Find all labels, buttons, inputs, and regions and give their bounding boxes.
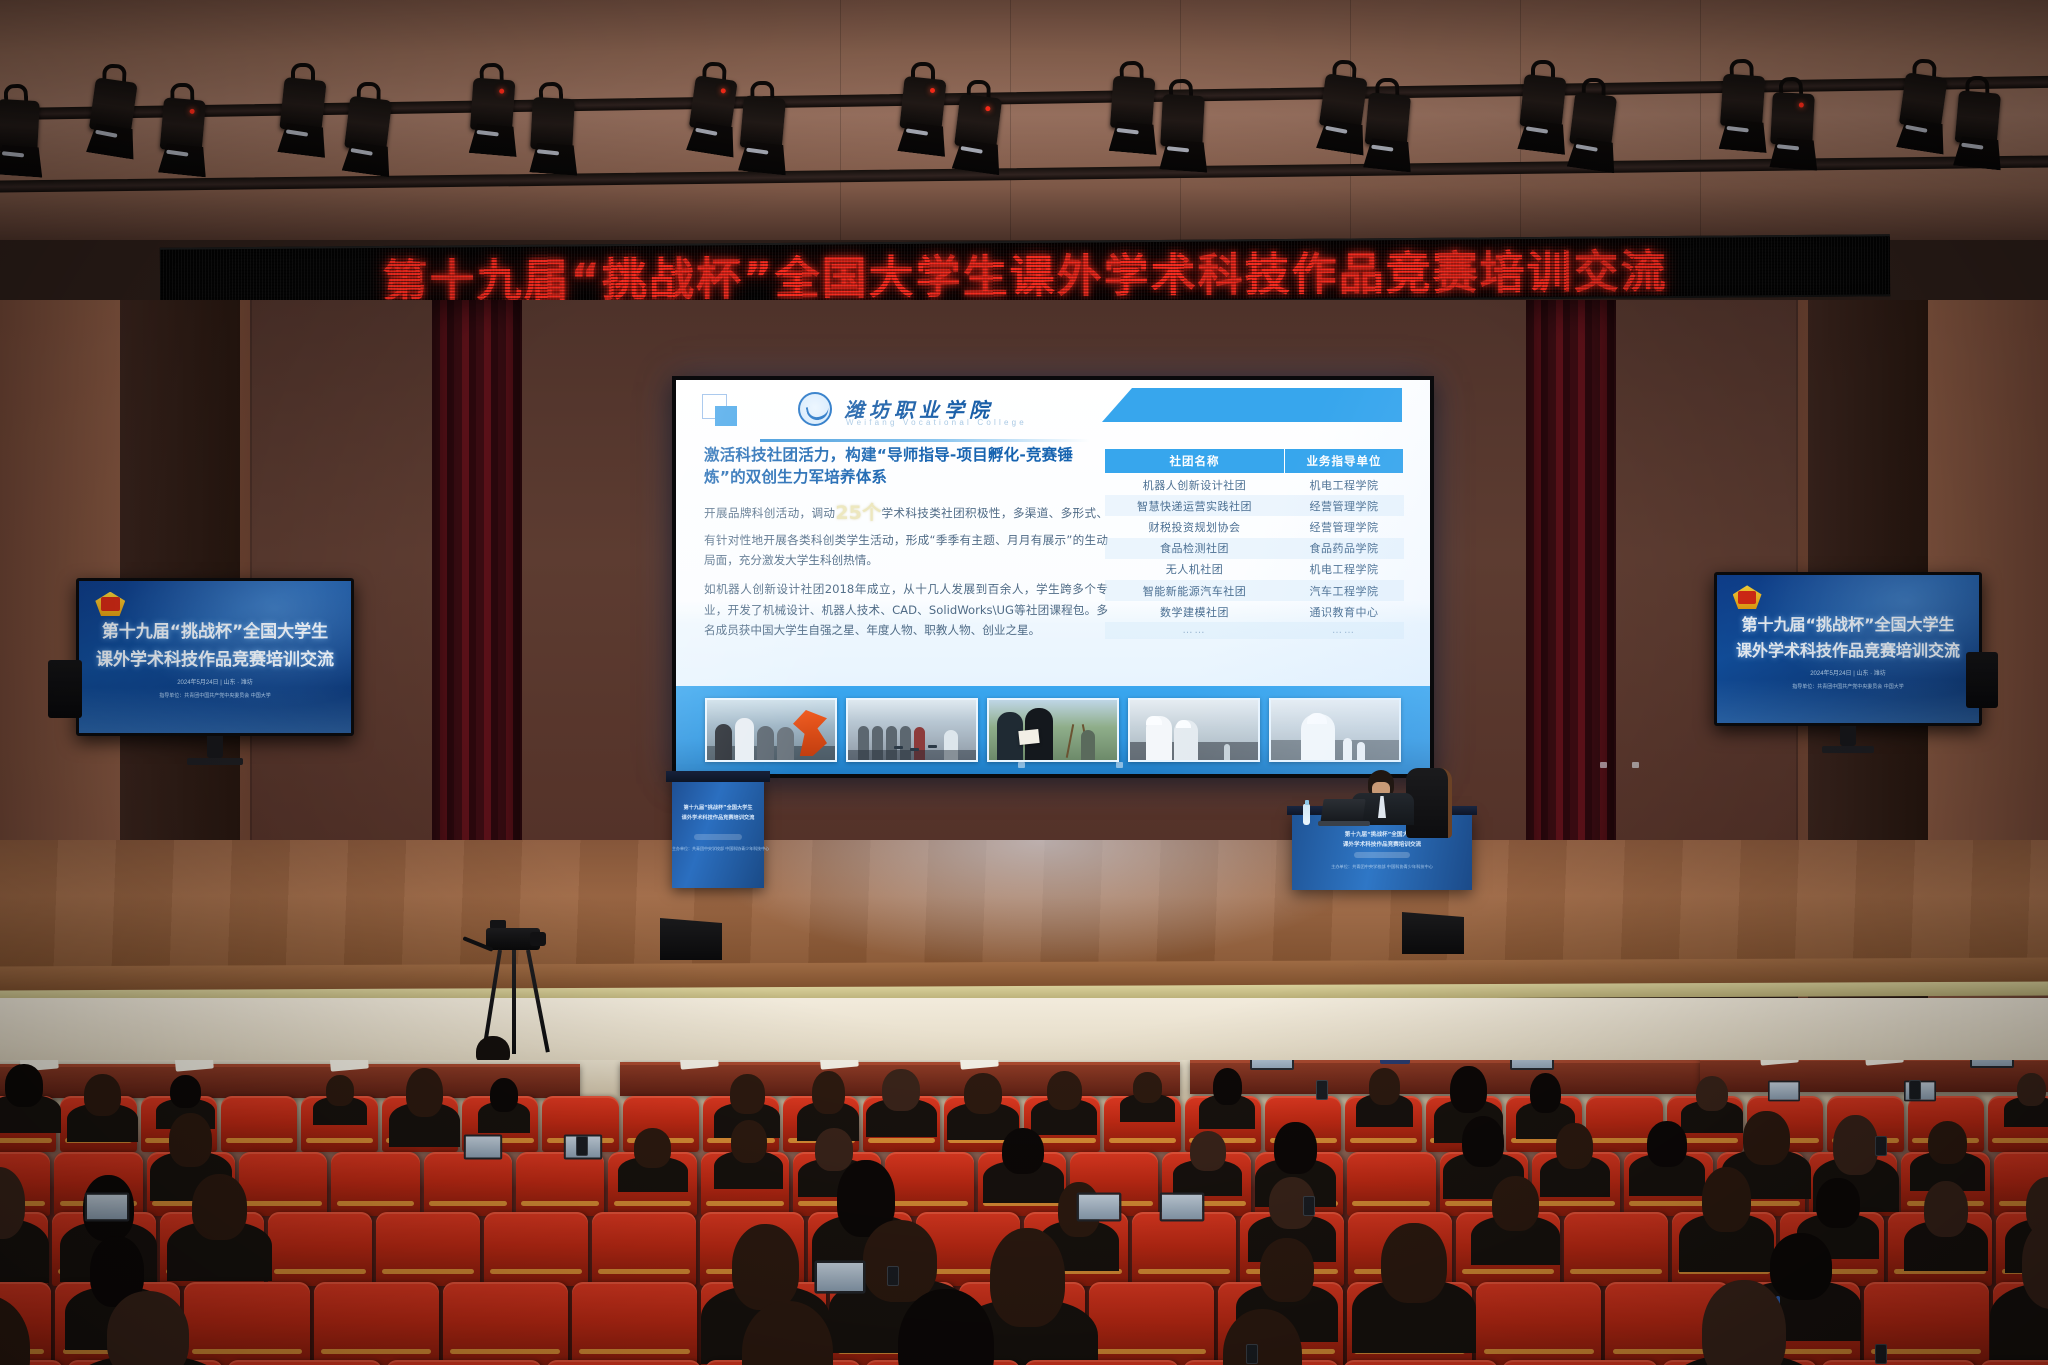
auditorium-seat[interactable] bbox=[227, 1360, 382, 1365]
audience-member-head bbox=[812, 1071, 845, 1115]
monitor-right-line1: 第十九届“挑战杯”全国大学生 bbox=[1717, 611, 1979, 635]
spotlight-fixture bbox=[689, 73, 738, 153]
audience-member-head bbox=[863, 1220, 937, 1302]
auditorium-seat[interactable] bbox=[1343, 1360, 1498, 1365]
auditorium-seat[interactable] bbox=[546, 1360, 701, 1365]
audience-laptop bbox=[1159, 1192, 1204, 1221]
audience-house bbox=[0, 1060, 2048, 1365]
slide-body-paragraph-1: 开展品牌科创活动，调动25个学术科技类社团积极性，多渠道、多形式、有针对性地开展… bbox=[704, 497, 1108, 570]
head-table-host-line: 主办单位：共青团中央学校部 中国科协青少年科技中心 bbox=[1292, 864, 1472, 870]
side-monitor-right[interactable]: 第十九届“挑战杯”全国大学生 课外学术科技作品竞赛培训交流 2024年5月24日… bbox=[1714, 572, 1982, 753]
audience-member-head bbox=[1133, 1072, 1162, 1103]
audience-member-head bbox=[990, 1228, 1065, 1327]
audience-laptop bbox=[1250, 1060, 1294, 1070]
auditorium-seat[interactable] bbox=[1980, 1360, 2048, 1365]
spotlight-fixture bbox=[1899, 70, 1948, 150]
spotlight-fixture bbox=[1719, 70, 1768, 150]
lectern-date-bar bbox=[694, 834, 742, 840]
main-projection-screen[interactable]: 潍坊职业学院 Weifang Vocational College 激活科技社团… bbox=[672, 376, 1434, 778]
photo-chemistry-lab bbox=[1269, 698, 1401, 762]
auditorium-seat[interactable] bbox=[1132, 1212, 1236, 1286]
photo-drone-club-lineup bbox=[846, 698, 978, 762]
audience-member-head bbox=[406, 1068, 443, 1117]
spotlight-fixture bbox=[900, 74, 946, 152]
table-row: 智能新能源汽车社团汽车工程学院 bbox=[1105, 580, 1404, 601]
header-rule bbox=[760, 439, 1090, 442]
party-emblem-icon bbox=[1733, 585, 1762, 609]
audience-laptop bbox=[1510, 1060, 1554, 1070]
auditorium-seat[interactable] bbox=[331, 1152, 419, 1216]
auditorium-seat[interactable] bbox=[1564, 1212, 1668, 1286]
audience-member-head bbox=[1816, 1178, 1859, 1228]
audience-member-head bbox=[815, 1128, 853, 1171]
audience-member-head bbox=[192, 1174, 247, 1240]
audience-laptop bbox=[1970, 1060, 2014, 1068]
auditorium-seat[interactable] bbox=[1821, 1360, 1976, 1365]
audience-member-head bbox=[1213, 1068, 1242, 1105]
audience-member-head bbox=[1047, 1071, 1082, 1110]
slide-body-paragraph-2: 如机器人创新设计社团2018年成立，从十几人发展到百余人，学生跨多个专业，开发了… bbox=[704, 579, 1108, 640]
spotlight-fixture bbox=[528, 92, 578, 172]
audience-phone bbox=[1316, 1080, 1328, 1100]
cell-department: 食品药品学院 bbox=[1285, 538, 1404, 559]
spotlight-fixture bbox=[1954, 88, 2001, 167]
audience-phone bbox=[1246, 1344, 1258, 1364]
spotlight-fixture bbox=[344, 94, 391, 173]
cell-department: 机电工程学院 bbox=[1285, 474, 1404, 496]
spotlight-fixture bbox=[1520, 72, 1566, 150]
camera-lens-icon bbox=[530, 932, 546, 946]
cell-club-name: …… bbox=[1105, 622, 1285, 638]
audience-member-head bbox=[1556, 1123, 1593, 1169]
audience-member-head bbox=[1770, 1233, 1833, 1300]
spotlight-fixture bbox=[1569, 89, 1616, 168]
lectern-line1: 第十九届“挑战杯”全国大学生 bbox=[672, 804, 764, 811]
spotlight-fixture bbox=[89, 75, 138, 155]
spotlight-fixture bbox=[954, 92, 1001, 171]
video-camera-tripod bbox=[468, 928, 564, 1058]
presentation-slide: 潍坊职业学院 Weifang Vocational College 激活科技社团… bbox=[676, 380, 1430, 774]
table-row: ………… bbox=[1105, 622, 1404, 638]
monitor-right-line2: 课外学术科技作品竞赛培训交流 bbox=[1717, 637, 1979, 661]
audience-member-head bbox=[326, 1075, 354, 1106]
auditorium-seat[interactable] bbox=[572, 1282, 697, 1365]
cell-club-name: 数学建模社团 bbox=[1105, 601, 1285, 622]
monitor-left-line2: 课外学术科技作品竞赛培训交流 bbox=[79, 645, 351, 670]
water-bottle bbox=[1303, 804, 1310, 825]
blue-parallelogram-banner bbox=[1102, 388, 1402, 422]
body-text-a: 开展品牌科创活动，调动 bbox=[704, 506, 835, 520]
cell-club-name: 食品检测社团 bbox=[1105, 538, 1285, 559]
audience-member-head bbox=[882, 1069, 919, 1111]
audience-member-head bbox=[1696, 1076, 1728, 1112]
photo-robot-arm-lab bbox=[705, 698, 837, 762]
audience-member-head bbox=[170, 1075, 201, 1109]
audience-laptop bbox=[84, 1192, 129, 1221]
audience-member-head bbox=[1492, 1176, 1539, 1231]
speaker-laptop-base bbox=[1318, 821, 1370, 826]
cell-department: …… bbox=[1285, 622, 1404, 638]
cell-club-name: 智能新能源汽车社团 bbox=[1105, 580, 1285, 601]
table-row: 无人机社团机电工程学院 bbox=[1105, 559, 1404, 580]
auditorium-seat[interactable] bbox=[1502, 1360, 1657, 1365]
camera-operator-head bbox=[476, 1036, 510, 1062]
audience-member-head bbox=[730, 1074, 765, 1113]
club-table: 社团名称 业务指导单位 机器人创新设计社团机电工程学院智慧快递运营实践社团经营管… bbox=[1104, 448, 1404, 639]
square-fill-icon bbox=[715, 406, 737, 426]
lectern-line2: 课外学术科技作品竞赛培训交流 bbox=[672, 814, 764, 821]
audience-phone bbox=[1303, 1196, 1315, 1216]
auditorium-seat[interactable] bbox=[443, 1282, 568, 1365]
led-banner: 第十九届“挑战杯”全国大学生课外学术科技作品竞赛培训交流 bbox=[160, 234, 1890, 310]
audience-member-head bbox=[169, 1113, 212, 1167]
monitor-left-sub1: 2024年5月24日 | 山东 · 潍坊 bbox=[79, 677, 351, 686]
table-row: 财税投资规划协会经营管理学院 bbox=[1105, 516, 1404, 537]
table-header-department: 业务指导单位 bbox=[1285, 449, 1404, 474]
table-row: 机器人创新设计社团机电工程学院 bbox=[1105, 474, 1404, 496]
audience-notebook bbox=[1380, 1060, 1410, 1064]
audience-member-head bbox=[1743, 1111, 1790, 1166]
audience-member-head bbox=[1928, 1121, 1967, 1164]
audience-member-head bbox=[731, 1120, 767, 1163]
cell-department: 经营管理学院 bbox=[1285, 516, 1404, 537]
spotlight-fixture bbox=[280, 75, 326, 153]
audience-member-head bbox=[1924, 1181, 1968, 1237]
audience-phone bbox=[887, 1266, 899, 1286]
led-banner-text: 第十九届“挑战杯”全国大学生课外学术科技作品竞赛培训交流 bbox=[382, 234, 1668, 309]
audience-member-head bbox=[1260, 1238, 1314, 1302]
spotlight-fixture bbox=[1158, 90, 1208, 170]
spotlight-fixture bbox=[159, 95, 206, 174]
audience-member-head bbox=[1702, 1167, 1752, 1232]
audience-laptop bbox=[464, 1135, 502, 1160]
auditorium-seat[interactable] bbox=[484, 1212, 588, 1286]
auditorium-seat[interactable] bbox=[516, 1152, 604, 1216]
stage-monitor-right bbox=[1402, 912, 1464, 954]
university-crest-icon bbox=[798, 392, 832, 426]
auditorium-seat[interactable] bbox=[1089, 1282, 1214, 1365]
audience-member-head bbox=[1530, 1073, 1561, 1114]
spotlight-fixture bbox=[1319, 72, 1368, 152]
auditorium-seat[interactable] bbox=[314, 1282, 439, 1365]
auditorium-scene: 第十九届“挑战杯”全国大学生课外学术科技作品竞赛培训交流 潍坊职业学院 Weif… bbox=[0, 0, 2048, 1365]
table-body: 机器人创新设计社团机电工程学院智慧快递运营实践社团经营管理学院财税投资规划协会经… bbox=[1105, 474, 1404, 639]
university-name-en: Weifang Vocational College bbox=[846, 418, 1027, 427]
auditorium-seat[interactable] bbox=[239, 1152, 327, 1216]
stage-monitor-left bbox=[660, 918, 722, 960]
audience-member-head bbox=[2017, 1073, 2046, 1106]
monitor-left-line1: 第十九届“挑战杯”全国大学生 bbox=[79, 617, 351, 642]
auditorium-seat[interactable] bbox=[1024, 1360, 1179, 1365]
auditorium-seat[interactable] bbox=[1347, 1152, 1435, 1216]
head-table-date-bar bbox=[1354, 852, 1410, 858]
table-row: 智慧快递运营实践社团经营管理学院 bbox=[1105, 495, 1404, 516]
auditorium-seat[interactable] bbox=[268, 1212, 372, 1286]
audience-phone bbox=[1909, 1080, 1921, 1100]
photo-food-testing-lab bbox=[1128, 698, 1260, 762]
wall-speaker-right bbox=[1966, 652, 1998, 708]
cell-club-name: 机器人创新设计社团 bbox=[1105, 474, 1285, 496]
auditorium-seat[interactable] bbox=[1476, 1282, 1601, 1365]
audience-laptop bbox=[1768, 1081, 1800, 1102]
audience-member-head bbox=[1462, 1116, 1505, 1167]
cell-club-name: 智慧快递运营实践社团 bbox=[1105, 495, 1285, 516]
audience-member-head bbox=[1381, 1223, 1446, 1303]
head-table-line2: 课外学术科技作品竞赛培训交流 bbox=[1292, 840, 1472, 848]
audience-member-head bbox=[1450, 1066, 1487, 1114]
party-emblem-icon bbox=[95, 592, 125, 616]
auditorium-seat[interactable] bbox=[386, 1360, 541, 1365]
audience-member-head bbox=[1647, 1121, 1687, 1167]
audience-member-head bbox=[84, 1074, 121, 1116]
spotlight-fixture bbox=[469, 74, 518, 154]
side-monitor-left[interactable]: 第十九届“挑战杯”全国大学生 课外学术科技作品竞赛培训交流 2024年5月24日… bbox=[76, 578, 354, 765]
audience-laptop bbox=[815, 1260, 866, 1293]
auditorium-seat[interactable] bbox=[885, 1152, 973, 1216]
lectern: 第十九届“挑战杯”全国大学生 课外学术科技作品竞赛培训交流 主办单位：共青团中央… bbox=[672, 778, 764, 888]
audience-member-head bbox=[5, 1064, 43, 1107]
audience-member-head bbox=[964, 1073, 1002, 1114]
audience-phone bbox=[1875, 1136, 1887, 1156]
table-header-club-name: 社团名称 bbox=[1105, 449, 1285, 474]
cell-department: 机电工程学院 bbox=[1285, 559, 1404, 580]
highlight-number: 25个 bbox=[835, 502, 881, 524]
audience-member-head bbox=[490, 1078, 518, 1112]
audience-member-head bbox=[107, 1291, 189, 1365]
audience-member-head bbox=[1190, 1131, 1226, 1171]
spotlight-fixture bbox=[1768, 88, 1818, 168]
audience-member-head bbox=[1833, 1115, 1878, 1175]
cell-club-name: 无人机社团 bbox=[1105, 559, 1285, 580]
cell-department: 汽车工程学院 bbox=[1285, 580, 1404, 601]
audience-laptop bbox=[1076, 1192, 1121, 1221]
auditorium-seat[interactable] bbox=[592, 1212, 696, 1286]
audience-phone bbox=[576, 1136, 588, 1156]
spotlight-fixture bbox=[0, 95, 43, 175]
slide-title: 激活科技社团活力，构建“导师指导-项目孵化-竞赛锤炼”的双创生力军培养体系 bbox=[704, 444, 1108, 488]
cell-department: 经营管理学院 bbox=[1285, 495, 1404, 516]
audience-member-head bbox=[732, 1224, 800, 1310]
audience-phone bbox=[1875, 1344, 1887, 1364]
photo-surveying-field bbox=[987, 698, 1119, 762]
speaker-laptop-lid bbox=[1320, 799, 1365, 823]
lectern-host-line: 主办单位：共青团中央学校部 中国科协青少年科技中心 bbox=[672, 846, 764, 852]
slide-text-column: 激活科技社团活力，构建“导师指导-项目孵化-竞赛锤炼”的双创生力军培养体系 开展… bbox=[704, 444, 1108, 640]
auditorium-seat[interactable] bbox=[424, 1152, 512, 1216]
cell-department: 通识教育中心 bbox=[1285, 601, 1404, 622]
audience-member-head bbox=[1369, 1068, 1399, 1104]
auditorium-seat[interactable] bbox=[376, 1212, 480, 1286]
auditorium-seat[interactable] bbox=[221, 1096, 297, 1152]
audience-member-head bbox=[634, 1128, 671, 1167]
slide-photo-strip bbox=[676, 686, 1430, 774]
spotlight-fixture bbox=[1364, 90, 1411, 169]
table-row: 食品检测社团食品药品学院 bbox=[1105, 538, 1404, 559]
audience-member-head bbox=[1702, 1280, 1785, 1365]
table-header-row: 社团名称 业务指导单位 bbox=[1105, 449, 1404, 474]
audience-member-head bbox=[1002, 1128, 1045, 1175]
table-row: 数学建模社团通识教育中心 bbox=[1105, 601, 1404, 622]
auditorium-seat[interactable] bbox=[184, 1282, 309, 1365]
spotlight-fixture bbox=[739, 92, 786, 171]
wall-speaker-left bbox=[48, 660, 82, 718]
cell-club-name: 财税投资规划协会 bbox=[1105, 516, 1285, 537]
monitor-right-sub1: 2024年5月24日 | 山东 · 潍坊 bbox=[1717, 668, 1979, 677]
stage-floor-light-pool bbox=[700, 840, 1380, 965]
audience-member-head bbox=[1274, 1122, 1316, 1175]
spotlight-fixture bbox=[1109, 72, 1158, 152]
